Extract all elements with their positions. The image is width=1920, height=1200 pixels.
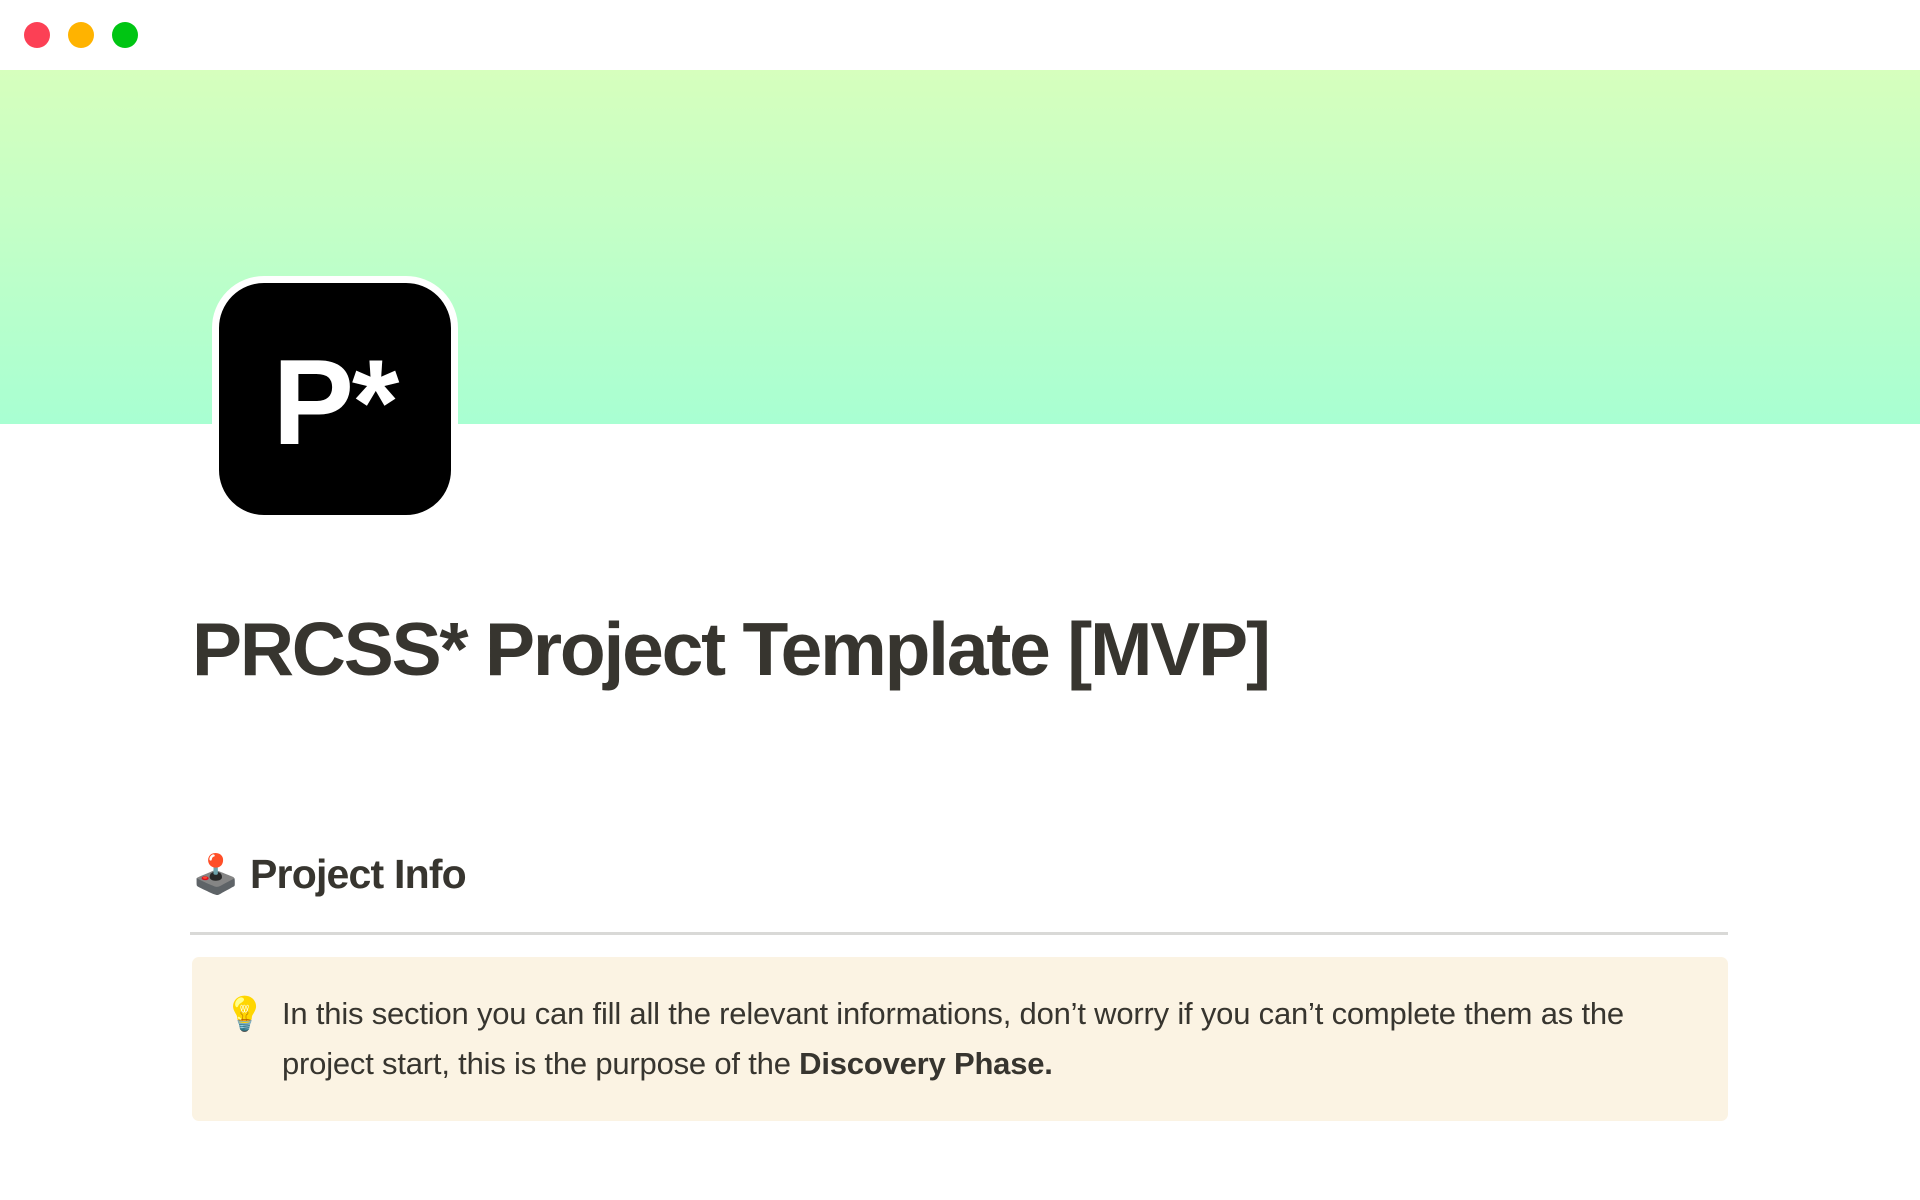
joystick-emoji: 🕹️: [192, 856, 236, 894]
section-divider: [190, 932, 1728, 935]
app-window: P* PRCSS* Project Template [MVP] 🕹️ Proj…: [0, 0, 1920, 1200]
lightbulb-emoji: 💡: [224, 989, 270, 1039]
page-body: P* PRCSS* Project Template [MVP] 🕹️ Proj…: [0, 0, 1920, 1200]
callout-text-bold: Discovery Phase.: [799, 1046, 1053, 1081]
close-window-button[interactable]: [24, 22, 50, 48]
callout-text: In this section you can fill all the rel…: [282, 989, 1692, 1089]
page-icon-tile[interactable]: P*: [212, 276, 458, 522]
window-titlebar: [0, 0, 1920, 70]
minimize-window-button[interactable]: [68, 22, 94, 48]
page-icon-glyph: P*: [273, 341, 398, 463]
callout-block[interactable]: 💡 In this section you can fill all the r…: [192, 957, 1728, 1121]
window-traffic-lights: [24, 22, 138, 48]
section-heading-project-info[interactable]: 🕹️ Project Info: [192, 848, 1728, 901]
page-title[interactable]: PRCSS* Project Template [MVP]: [192, 607, 1728, 693]
section-heading-label: Project Info: [250, 848, 466, 901]
page-icon[interactable]: P*: [212, 276, 458, 522]
maximize-window-button[interactable]: [112, 22, 138, 48]
